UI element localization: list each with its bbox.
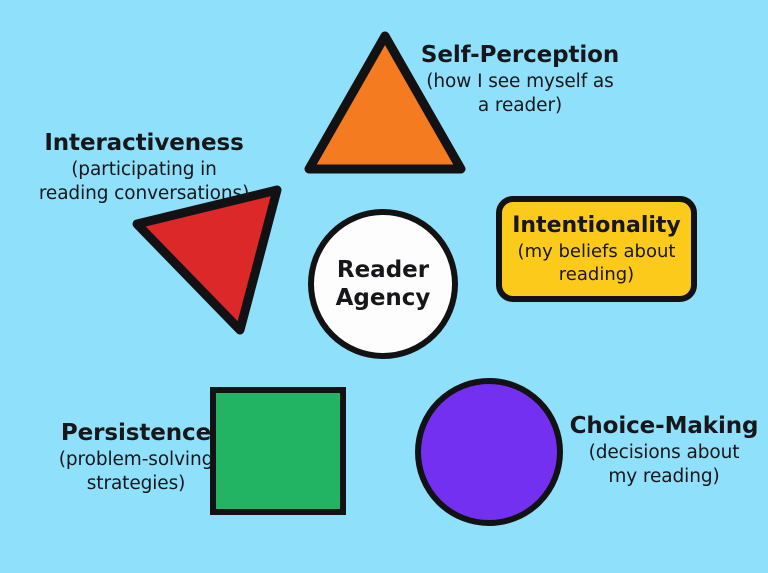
choice-making-title: Choice-Making bbox=[566, 413, 762, 440]
choice-making-subtitle-line1: (decisions about bbox=[566, 442, 762, 464]
persistence-subtitle-line2: strategies) bbox=[38, 473, 234, 495]
self-perception-title: Self-Perception bbox=[414, 42, 626, 69]
self-perception-subtitle-line1: (how I see myself as bbox=[414, 71, 626, 93]
center-label-line1: Reader bbox=[337, 257, 429, 283]
self-perception-subtitle-line2: a reader) bbox=[414, 95, 626, 117]
choice-making-subtitle-line2: my reading) bbox=[566, 466, 762, 488]
center-label: Reader Agency bbox=[336, 256, 431, 312]
triangle-interactiveness bbox=[137, 190, 277, 330]
center-circle-reader-agency: Reader Agency bbox=[308, 209, 458, 359]
label-self-perception: Self-Perception (how I see myself as a r… bbox=[414, 42, 626, 117]
persistence-title: Persistence bbox=[38, 420, 234, 447]
persistence-subtitle-line1: (problem-solving bbox=[38, 449, 234, 471]
circle-choice-making bbox=[415, 378, 563, 526]
intentionality-subtitle-line2: reading) bbox=[559, 264, 634, 285]
interactiveness-subtitle-line1: (participating in bbox=[24, 159, 264, 181]
label-persistence: Persistence (problem-solving strategies) bbox=[38, 420, 234, 495]
interactiveness-subtitle-line2: reading conversations) bbox=[24, 183, 264, 205]
label-interactiveness: Interactiveness (participating in readin… bbox=[24, 130, 264, 205]
reader-agency-diagram: Intentionality (my beliefs about reading… bbox=[0, 0, 768, 573]
interactiveness-title: Interactiveness bbox=[24, 130, 264, 157]
center-label-line2: Agency bbox=[336, 285, 431, 311]
intentionality-subtitle-line1: (my beliefs about bbox=[518, 241, 676, 262]
label-choice-making: Choice-Making (decisions about my readin… bbox=[566, 413, 762, 488]
card-intentionality: Intentionality (my beliefs about reading… bbox=[496, 196, 697, 302]
intentionality-title: Intentionality bbox=[512, 213, 681, 239]
